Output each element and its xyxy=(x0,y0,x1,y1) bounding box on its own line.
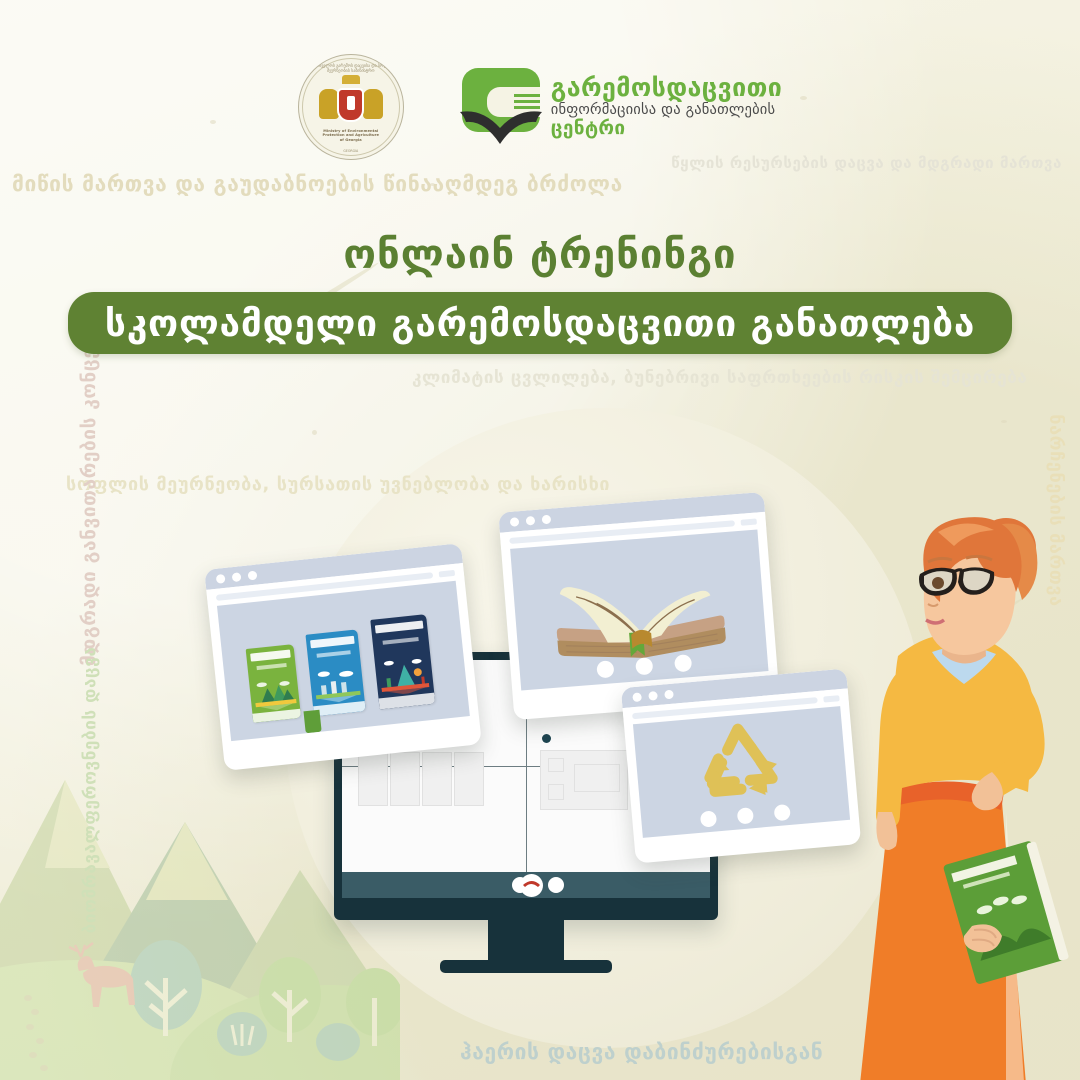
monitor-base xyxy=(440,960,612,973)
paper-speck xyxy=(312,430,317,435)
logo-line-2: ინფორმაციისა და განათლების xyxy=(551,103,782,118)
recycling-browser-window[interactable] xyxy=(621,668,861,863)
textbook-navy xyxy=(370,614,435,709)
logo-line-1: გარემოსდაცვითი xyxy=(551,75,782,101)
logo-line-3: ცენტრი xyxy=(551,119,782,139)
window-content xyxy=(217,581,470,741)
watermark-mid-center: კლიმატის ცვლილება, ბუნებრივი საფრთხეების… xyxy=(412,368,1027,388)
emblem-line3: of Georgia xyxy=(299,138,403,142)
book-leaf-logo-icon xyxy=(462,68,540,146)
window-dot-icon[interactable] xyxy=(648,691,658,701)
poster-canvas: საქართველოს გარემოს დაცვისა და სოფლის მე… xyxy=(0,0,1080,1080)
window-content xyxy=(633,706,850,838)
watermark-top-right: წყლის რესურსების დაცვა და მდგრადი მართვა xyxy=(671,154,1062,172)
window-dot-icon[interactable] xyxy=(216,573,226,583)
title-banner: სკოლამდელი გარემოსდაცვითი განათლება xyxy=(68,292,1012,354)
watermark-mid-left: სოფლის მეურნეობა, სურსათის უვნებლობა და … xyxy=(66,474,610,495)
emblem-ring-text: საქართველოს გარემოს დაცვისა და სოფლის მე… xyxy=(299,63,403,73)
crown-icon xyxy=(342,75,360,84)
page-title: ონლაინ ტრენინგი xyxy=(0,232,1080,278)
window-dot-icon[interactable] xyxy=(664,689,674,699)
video-call-toolbar xyxy=(342,872,710,898)
banner-text: სკოლამდელი გარემოსდაცვითი განათლება xyxy=(105,302,975,345)
header-logos: საქართველოს გარემოს დაცვისა და სოფლის მე… xyxy=(0,52,1080,162)
emblem-ministry-text: Ministry of Environmental Protection and… xyxy=(299,129,403,142)
shield-icon xyxy=(339,90,362,120)
window-content xyxy=(510,529,768,690)
textbook-green xyxy=(246,644,301,723)
emblem-bottom-tag: GEORGIA xyxy=(299,149,403,153)
go-button[interactable] xyxy=(439,569,456,577)
go-button[interactable] xyxy=(823,695,839,702)
lion-left-icon xyxy=(319,89,339,119)
video-button[interactable] xyxy=(548,877,564,893)
paper-speck xyxy=(1001,420,1007,423)
watermark-top-left: მიწის მართვა და გაუდაბნოების წინააღმდეგ … xyxy=(12,172,623,196)
lion-right-icon xyxy=(363,89,383,119)
watermark-vertical-left-inner: ბიომრავალფეროვნების დაცვა xyxy=(80,647,100,934)
ministry-emblem: საქართველოს გარემოს დაცვისა და სოფლის მე… xyxy=(298,54,404,160)
window-dot-icon[interactable] xyxy=(510,517,520,527)
go-button[interactable] xyxy=(741,518,757,525)
window-dot-icon[interactable] xyxy=(526,515,536,525)
teacher-woman xyxy=(846,512,1080,1080)
watermark-bottom-center: ჰაერის დაცვა დაბინძურებისგან xyxy=(460,1040,823,1064)
textbook-blue xyxy=(305,629,365,716)
window-dot-icon[interactable] xyxy=(232,572,242,582)
window-dot-icon[interactable] xyxy=(247,570,257,580)
centre-logo: გარემოსდაცვითი ინფორმაციისა და განათლები… xyxy=(462,68,782,146)
monitor-neck xyxy=(488,920,564,964)
window-dot-icon[interactable] xyxy=(542,514,552,524)
green-bookmark-icon xyxy=(303,710,321,734)
books-browser-window[interactable] xyxy=(204,543,482,771)
window-dot-icon[interactable] xyxy=(632,692,642,702)
end-call-button[interactable] xyxy=(520,874,543,897)
